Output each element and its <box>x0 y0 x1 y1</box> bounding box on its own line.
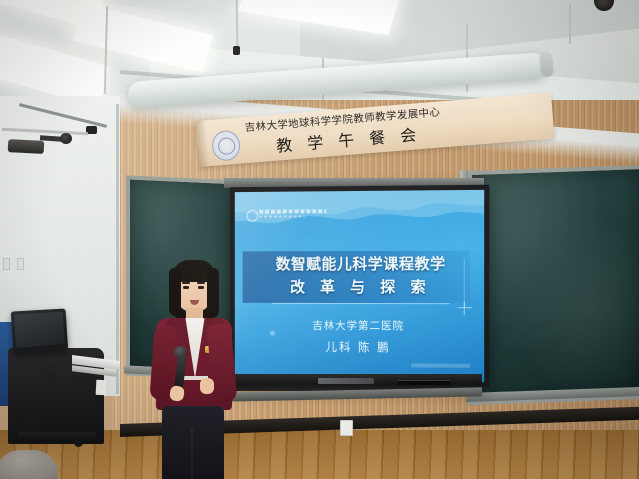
hanging-wire-node <box>233 46 240 55</box>
wall-outlet <box>3 258 10 270</box>
presenter-eyebrow <box>197 282 205 284</box>
chalk-residue <box>472 169 639 401</box>
slide-footer-mark <box>411 363 470 367</box>
presenter-eye <box>183 286 189 289</box>
interactive-display[interactable]: 数智赋能儿科学课程教学 改 革 与 探 索 吉林大学第二医院 儿科 陈 鹏 <box>230 185 489 388</box>
wall-switch-plate <box>340 420 353 436</box>
presenter-hair-side <box>169 268 181 316</box>
slide-cross-marker-icon <box>458 301 472 315</box>
blackboard-right <box>468 165 639 405</box>
presenter-eye <box>198 286 204 289</box>
slide-presenter-name: 儿科 陈 鹏 <box>235 338 484 355</box>
presenter <box>148 258 240 479</box>
podium-base <box>18 432 96 442</box>
display-brand-logo <box>318 378 374 384</box>
university-seal-icon <box>211 130 241 162</box>
wall-corner-edge <box>116 104 119 394</box>
wall-mounted-projector <box>8 139 45 154</box>
presenter-trousers <box>162 406 224 479</box>
presenter-eyebrow <box>182 282 190 284</box>
wall-outlet <box>17 258 24 270</box>
podium-monitor[interactable] <box>11 309 69 355</box>
slide-logo <box>247 209 328 220</box>
hospital-logo-wordmark <box>259 209 326 213</box>
podium-caster-wheel <box>74 438 83 447</box>
classroom-photo: 吉林大学地球科学学院教师教学发展中心 教 学 午 餐 会 数智赋能儿科学课程教学… <box>0 0 639 479</box>
slide-divider-rule <box>272 303 450 304</box>
hanging-wire <box>569 4 571 44</box>
presenter-trouser-seam <box>191 428 193 479</box>
podium-paper <box>96 380 107 396</box>
presentation-slide: 数智赋能儿科学课程教学 改 革 与 探 索 吉林大学第二医院 儿科 陈 鹏 <box>235 190 484 382</box>
presenter-hand <box>200 378 214 394</box>
slide-title-line2: 改 革 与 探 索 <box>250 276 472 297</box>
presenter-hair-side <box>207 268 219 318</box>
slide-affiliation: 吉林大学第二医院 <box>235 318 484 334</box>
display-vent-slot <box>398 380 450 385</box>
podium-monitor-screen <box>14 312 65 348</box>
hospital-logo-mark-icon <box>247 210 259 222</box>
slide-title-line1: 数智赋能儿科学课程教学 <box>250 253 472 274</box>
hospital-logo-subtext <box>259 215 304 217</box>
pendant-lamp-cap <box>539 52 554 78</box>
projector-lens-icon <box>60 133 72 144</box>
